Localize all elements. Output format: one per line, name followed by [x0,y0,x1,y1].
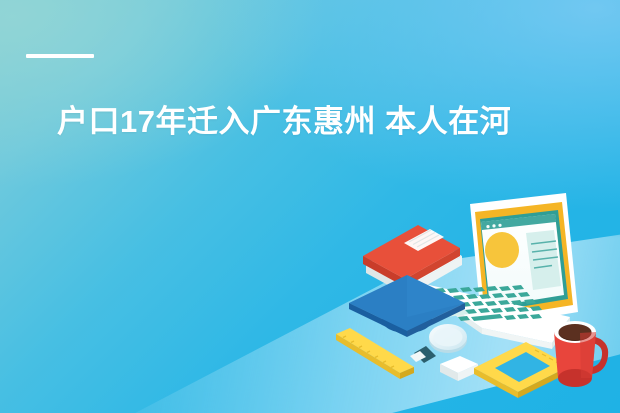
isometric-study-desk-illustration [330,186,620,413]
title-decoration-dash [26,54,94,58]
page-title: 户口17年迁入广东惠州 本人在河 [57,102,577,142]
triangle-ruler-icon [474,342,570,398]
cover-banner: 户口17年迁入广东惠州 本人在河 [0,0,620,413]
eraser-icon [440,356,478,381]
coffee-mug-icon [554,321,608,387]
ruler-icon [336,328,414,379]
